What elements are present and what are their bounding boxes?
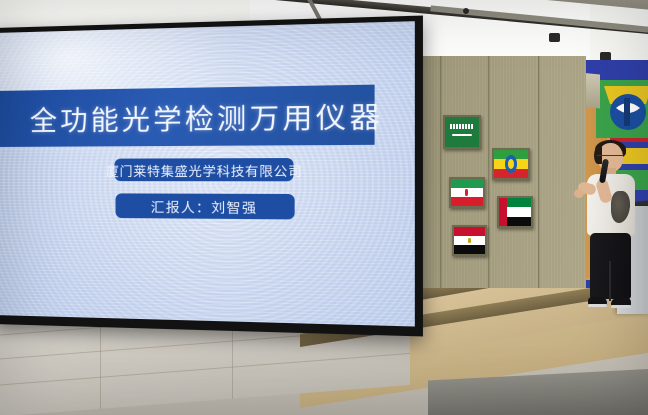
slide-surface: 全功能光学检测万用仪器 厦门莱特集盛光学科技有限公司 汇报人：刘智强	[0, 21, 415, 326]
slide-title: 全功能光学检测万用仪器	[30, 94, 384, 139]
ceiling-spotlight-icon	[549, 33, 560, 42]
left-shoe-sole	[588, 304, 607, 307]
slide-presenter-name: 汇报人：刘智强	[116, 193, 295, 219]
slide-title-bar: 全功能光学检测万用仪器	[0, 85, 375, 147]
led-presentation-screen[interactable]: 全功能光学检测万用仪器 厦门莱特集盛光学科技有限公司 汇报人：刘智强	[0, 16, 423, 337]
uae-flag	[497, 196, 533, 228]
iran-flag	[449, 177, 485, 208]
saudi-arabia-flag	[443, 115, 481, 149]
company-logo-icon	[594, 78, 648, 140]
ceiling-sensor-icon	[463, 8, 469, 14]
right-shoe-sole	[611, 305, 631, 308]
glasses-icon	[597, 155, 623, 161]
conference-room-photo: 全功能光学检测万用仪器 厦门莱特集盛光学科技有限公司 汇报人：刘智强	[0, 0, 648, 415]
egypt-flag	[452, 225, 487, 256]
shirt-print	[611, 191, 630, 223]
leg-gap	[609, 261, 611, 301]
left-hand	[574, 189, 584, 198]
wall-panel-seam	[488, 56, 490, 326]
wall-panel-seam	[538, 56, 540, 326]
ethiopia-flag	[492, 148, 530, 180]
slide-company-name: 厦门莱特集盛光学科技有限公司	[114, 158, 293, 181]
wall-panel-seam	[440, 56, 442, 326]
presenter	[578, 143, 642, 311]
